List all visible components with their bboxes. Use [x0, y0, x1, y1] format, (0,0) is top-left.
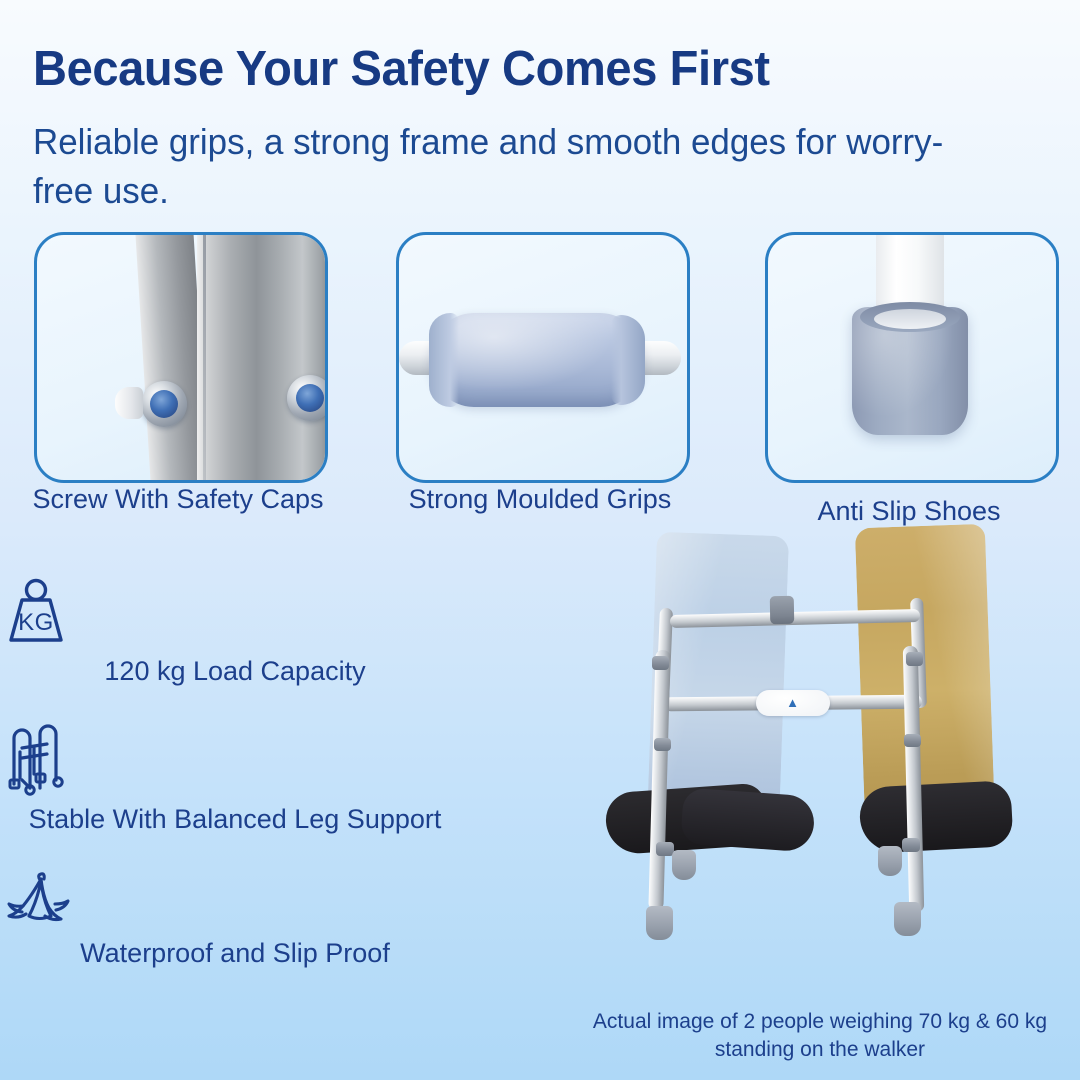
person-left-sock-b: [680, 787, 816, 852]
feature-label: 120 kg Load Capacity: [0, 654, 470, 688]
feature-waterproof-slip-proof: Waterproof and Slip Proof: [0, 872, 470, 970]
height-collar-left-mid: [654, 738, 671, 751]
screw-core: [150, 390, 178, 418]
screw-with-safety-caps-photo: [34, 232, 328, 483]
two-people-standing-on-walker-photo: ▲: [560, 520, 1080, 1020]
height-collar-right-mid: [904, 734, 921, 747]
feature-card-label: Screw With Safety Caps: [20, 482, 336, 517]
walker-folding-hinge: [770, 596, 794, 624]
weight-kg-icon: KG: [0, 578, 470, 648]
feature-card-screw: Screw With Safety Caps: [34, 232, 322, 477]
height-collar-right-lower: [902, 838, 920, 852]
height-collar-right-upper: [906, 652, 923, 666]
tube-seam: [203, 232, 206, 483]
feature-card-row: Screw With Safety Caps Strong Moulded Gr…: [0, 232, 1080, 542]
svg-text:KG: KG: [18, 609, 54, 636]
feature-card-grip: Strong Moulded Grips: [396, 232, 684, 477]
screw-core: [296, 384, 324, 412]
anti-slip-shoe-photo: [765, 232, 1059, 483]
moulded-grip-photo: [396, 232, 690, 483]
brand-badge: ▲: [756, 690, 830, 716]
feature-label: Waterproof and Slip Proof: [0, 936, 470, 970]
photo-caption: Actual image of 2 people weighing 70 kg …: [560, 1008, 1080, 1064]
safety-cap-icon: [115, 387, 143, 419]
walker-foot-right: [894, 902, 921, 936]
feature-load-capacity: KG 120 kg Load Capacity: [0, 578, 470, 688]
feature-list: KG 120 kg Load Capacity: [0, 578, 470, 970]
person-right-sock: [858, 780, 1013, 854]
screw-icon-secondary: [287, 375, 328, 421]
feature-label: Stable With Balanced Leg Support: [0, 802, 470, 836]
infographic-canvas: Because Your Safety Comes First Reliable…: [0, 0, 1080, 1080]
walker-foot-left-rear: [672, 850, 696, 880]
feature-leg-support: Stable With Balanced Leg Support: [0, 722, 470, 836]
walker-foot-left: [646, 906, 673, 940]
walker-tube-right: [197, 232, 328, 483]
screw-icon: [141, 381, 187, 427]
brand-logo-icon: ▲: [784, 696, 801, 710]
walker-frame-icon: [0, 722, 470, 796]
banana-peel-slip-icon: [0, 872, 470, 930]
feature-card-label: Strong Moulded Grips: [382, 482, 698, 517]
page-subtitle: Reliable grips, a strong frame and smoot…: [33, 118, 945, 215]
foam-grip: [429, 313, 645, 407]
walker-foot-right-rear: [878, 846, 902, 876]
rubber-shoe-tip: [852, 307, 968, 435]
height-collar-left-upper: [652, 656, 669, 670]
feature-card-shoe: Anti Slip Shoes: [765, 232, 1053, 477]
page-title: Because Your Safety Comes First: [33, 44, 955, 96]
